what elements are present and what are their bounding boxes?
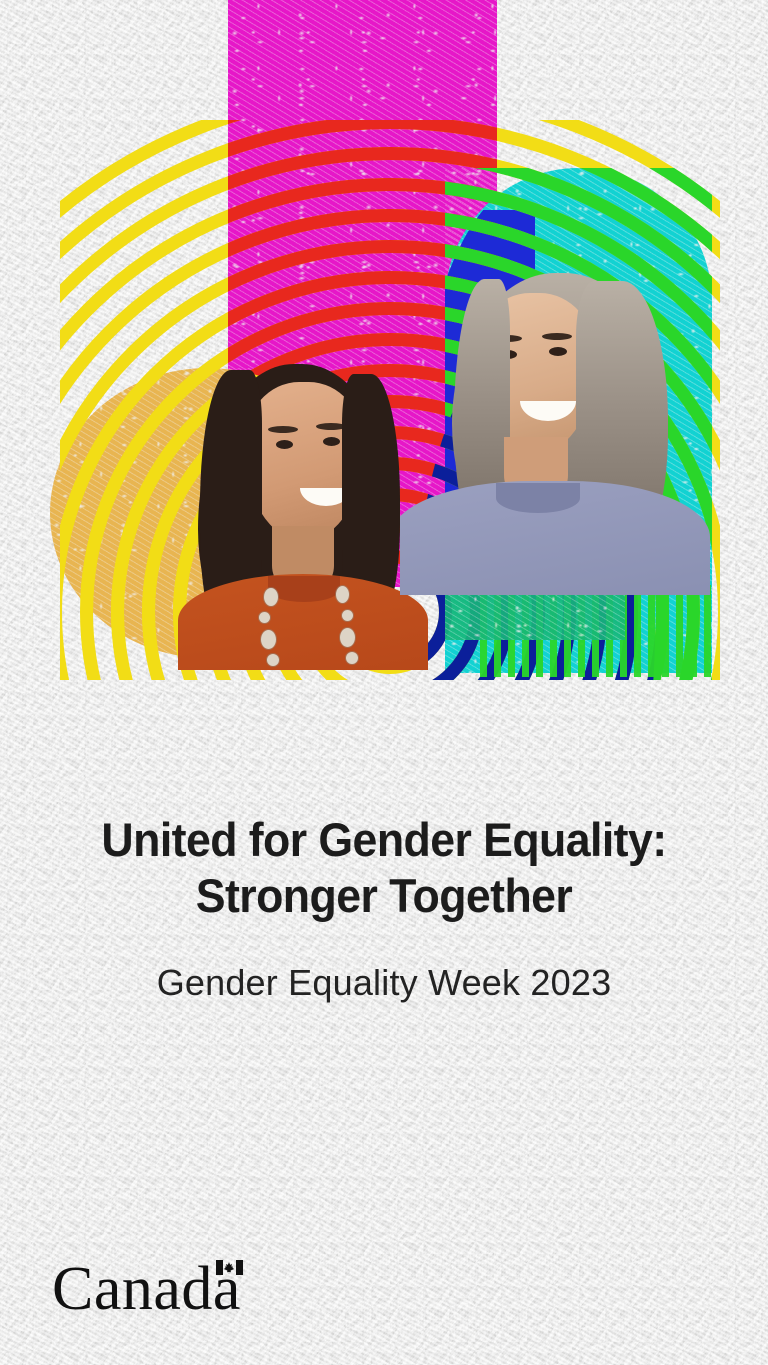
woman-left-eye-left bbox=[276, 440, 293, 449]
necklace-bead bbox=[267, 654, 279, 666]
flag-bar-right bbox=[236, 1260, 243, 1275]
necklace-bead bbox=[346, 652, 358, 664]
page-title: United for Gender Equality: Stronger Tog… bbox=[19, 812, 749, 924]
woman-right-collar bbox=[496, 483, 580, 513]
woman-left-collar bbox=[268, 576, 340, 602]
woman-left-eye-right bbox=[323, 437, 340, 446]
canada-flag-icon bbox=[216, 1260, 243, 1275]
woman-left-brow-left bbox=[268, 426, 298, 433]
necklace-bead bbox=[259, 612, 270, 623]
necklace-bead bbox=[336, 586, 349, 603]
flag-bar-left bbox=[216, 1260, 223, 1275]
canada-wordmark-text: Canada bbox=[52, 1258, 241, 1320]
woman-right-brow-right bbox=[542, 333, 572, 340]
necklace-bead bbox=[261, 630, 276, 649]
artwork-collage bbox=[0, 0, 768, 700]
canada-wordmark: Canada bbox=[52, 1258, 241, 1320]
necklace-bead bbox=[342, 610, 353, 621]
poster-canvas: United for Gender Equality: Stronger Tog… bbox=[0, 0, 768, 1365]
canada-wordmark-label: Canada bbox=[52, 1255, 241, 1323]
maple-leaf-icon bbox=[224, 1262, 235, 1274]
headline-line-2: Stronger Together bbox=[42, 868, 726, 924]
woman-right-eye-right bbox=[549, 347, 567, 356]
page-subtitle: Gender Equality Week 2023 bbox=[0, 960, 768, 1006]
headline-line-1: United for Gender Equality: bbox=[42, 812, 726, 868]
necklace-bead bbox=[264, 588, 278, 606]
woman-right-photo bbox=[400, 255, 712, 595]
necklace-bead bbox=[340, 628, 355, 647]
flag-center bbox=[223, 1260, 236, 1275]
